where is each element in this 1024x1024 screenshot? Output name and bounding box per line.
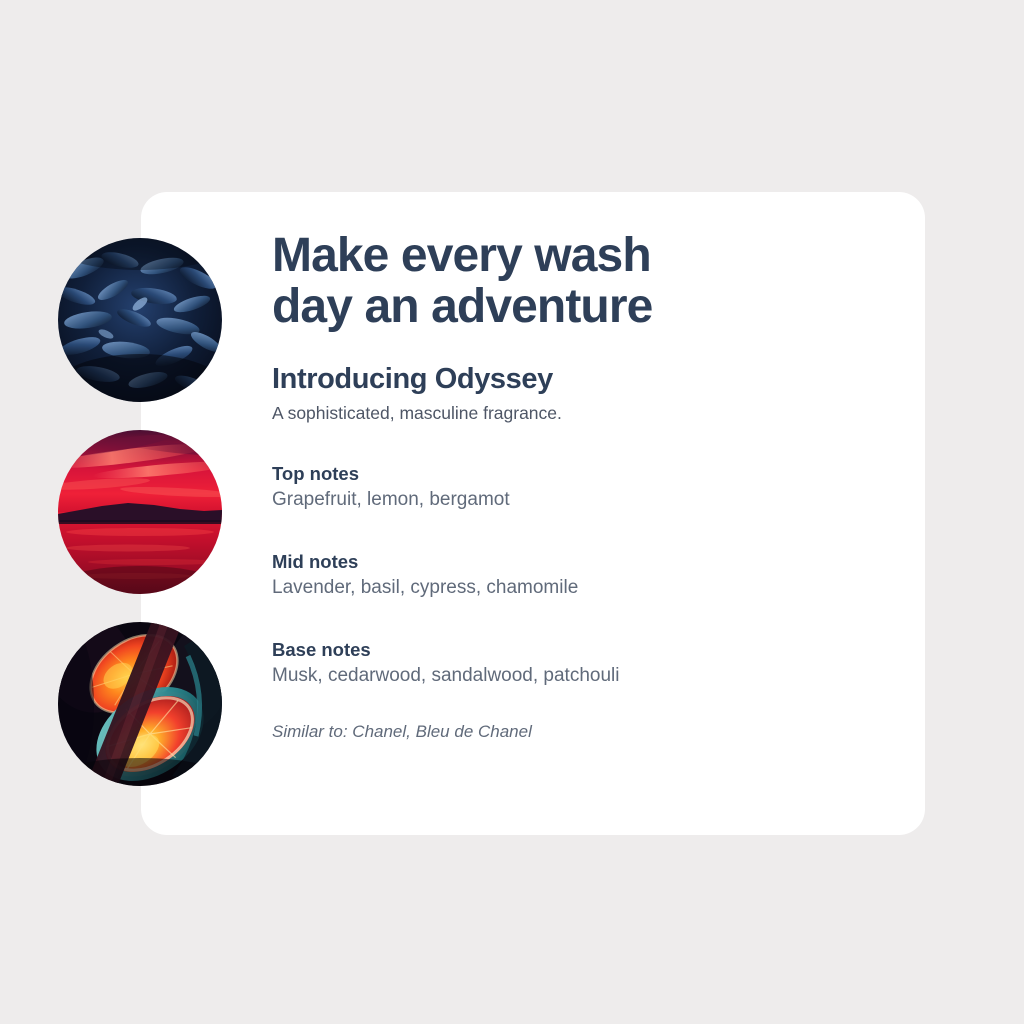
note-label-base: Base notes xyxy=(272,638,832,661)
promo-card: Make every wash day an adventure Introdu… xyxy=(141,192,925,835)
grapefruit-slices-photo xyxy=(58,622,222,786)
note-block-top: Top notes Grapefruit, lemon, bergamot xyxy=(272,462,832,512)
similar-to-note: Similar to: Chanel, Bleu de Chanel xyxy=(272,721,832,743)
intro-block: Introducing Odyssey A sophisticated, mas… xyxy=(272,363,832,424)
note-values-top: Grapefruit, lemon, bergamot xyxy=(272,488,832,512)
red-sunset-over-water-photo xyxy=(58,430,222,594)
card-content: Make every wash day an adventure Introdu… xyxy=(272,230,832,743)
page-title: Make every wash day an adventure xyxy=(272,230,832,332)
product-name-heading: Introducing Odyssey xyxy=(272,363,832,396)
note-label-top: Top notes xyxy=(272,462,832,485)
note-values-mid: Lavender, basil, cypress, chamomile xyxy=(272,576,832,600)
note-block-mid: Mid notes Lavender, basil, cypress, cham… xyxy=(272,550,832,600)
dark-lavender-field-photo xyxy=(58,238,222,402)
note-label-mid: Mid notes xyxy=(272,550,832,573)
product-tagline: A sophisticated, masculine fragrance. xyxy=(272,402,832,424)
note-block-base: Base notes Musk, cedarwood, sandalwood, … xyxy=(272,638,832,688)
note-values-base: Musk, cedarwood, sandalwood, patchouli xyxy=(272,664,832,688)
